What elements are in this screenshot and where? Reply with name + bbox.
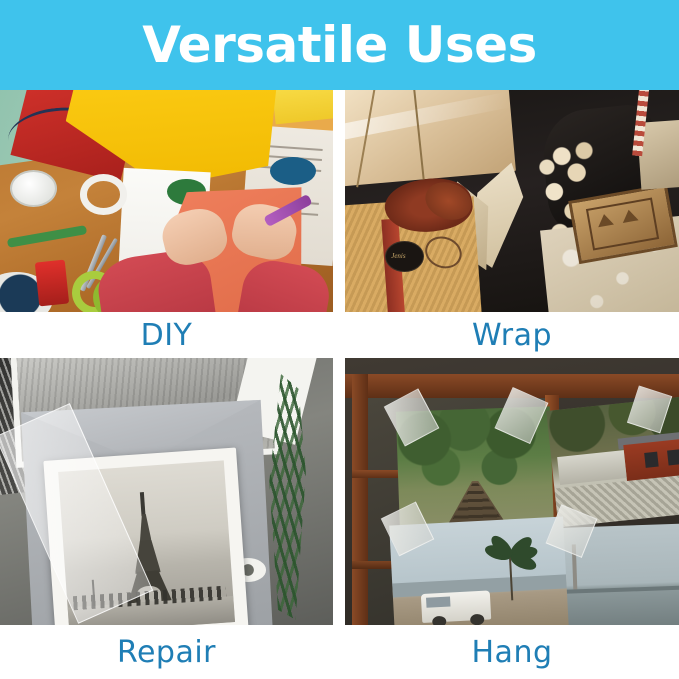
van-wheel: [432, 616, 446, 625]
gift-tag-shape: Jenis: [385, 241, 424, 272]
palm-tree-shape: [491, 541, 532, 601]
tower-segment: [138, 514, 152, 543]
tower-segment: [140, 492, 146, 516]
gift-tag-text: Jenis: [391, 252, 405, 260]
caption-hang: Hang: [345, 625, 679, 679]
diy-photo: [0, 90, 333, 312]
house-window: [644, 452, 659, 469]
red-glue-stick-shape: [34, 260, 68, 307]
page-title: Versatile Uses: [142, 20, 537, 70]
use-case-card-hang: Hang: [345, 358, 679, 679]
header-banner: Versatile Uses: [0, 0, 679, 90]
use-case-card-diy: DIY: [0, 90, 333, 358]
use-case-card-repair: Repair: [0, 358, 333, 679]
versatile-uses-infographic: Versatile Uses: [0, 0, 679, 679]
wrap-photo: Jenis: [345, 90, 679, 312]
glue-jar-shape: [10, 170, 57, 207]
repair-photo: [0, 358, 333, 625]
caption-wrap: Wrap: [345, 312, 679, 358]
use-case-card-wrap: Jenis Wrap: [345, 90, 679, 358]
house-window: [667, 449, 679, 466]
house-porch: [557, 450, 627, 485]
use-case-grid: DIY: [0, 90, 679, 679]
van-wheel: [470, 614, 484, 625]
caption-repair: Repair: [0, 625, 333, 679]
window-frame-left: [352, 374, 369, 625]
white-ring-shape: [80, 174, 127, 215]
hang-photo: [345, 358, 679, 625]
box-inner-border: [586, 198, 660, 251]
van-window: [426, 596, 450, 608]
green-stick-shape: [6, 225, 86, 248]
caption-diy: DIY: [0, 312, 333, 358]
